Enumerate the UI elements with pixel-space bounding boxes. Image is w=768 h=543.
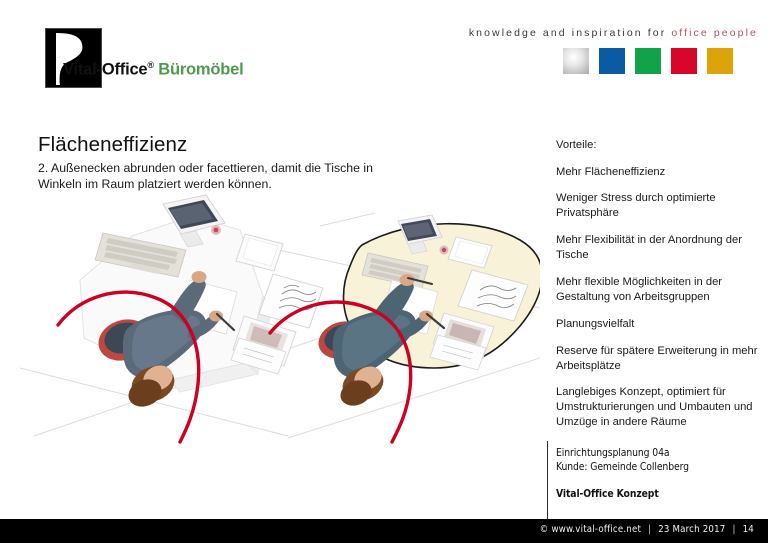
benefits-list: Vorteile: Mehr Flächeneffizienz Weniger … [556,138,758,442]
swatch-silver [563,48,589,74]
workstation-comparison-illustration [20,188,540,450]
footer-text: © www.vital-office.net|23 March 2017|14 [540,524,754,535]
footer-page-number: 14 [743,524,754,535]
meta-concept: Vital-Office Konzept [556,488,761,502]
brand-color-swatches [563,48,733,74]
illustration-stage [20,188,540,450]
swatch-blue [599,48,625,74]
tagline-primary: knowledge and inspiration for [469,27,667,39]
left-hand [192,271,207,283]
registered-mark-icon: ® [147,60,153,70]
right-hand [209,311,223,322]
page-title: Flächeneffizienz [38,133,508,157]
benefit-item: Mehr flexible Möglichkeiten in der Gesta… [556,275,758,305]
benefit-item: Reserve für spätere Erweiterung in mehr … [556,344,758,374]
project-meta: Einrichtungsplanung 04a Kunde: Gemeinde … [556,447,761,502]
benefits-heading: Vorteile: [556,138,758,153]
footer-copyright[interactable]: © www.vital-office.net [540,524,641,535]
vital-office-p-mark-icon [45,28,102,88]
footer-separator: | [733,524,736,535]
swatch-red [671,48,697,74]
benefit-item: Langlebiges Konzept, optimiert für Umstr… [556,385,758,430]
slide-footer: © www.vital-office.net|23 March 2017|14 [0,519,768,543]
tagline-accent: office people [671,27,758,39]
header-tagline: knowledge and inspiration for office peo… [398,27,758,39]
benefit-item: Mehr Flächeneffizienz [556,165,758,180]
meta-divider [547,441,548,519]
benefit-item: Planungsvielfalt [556,317,758,332]
benefit-item: Mehr Flexibilität in der Anordnung der T… [556,233,758,263]
title-block: Flächeneffizienz 2. Außenecken abrunden … [38,133,508,193]
meta-customer: Kunde: Gemeinde Collenberg [556,461,761,475]
slide-header: Vital-Office® Büromöbel knowledge and in… [0,0,768,108]
right-workstation [270,215,540,442]
benefit-item: Weniger Stress durch optimierte Privatsp… [556,191,758,221]
brand-logo[interactable]: Vital-Office® Büromöbel [45,28,285,88]
brand-name-secondary: Büromöbel [158,61,243,79]
slide: Vital-Office® Büromöbel knowledge and in… [0,0,768,543]
swatch-gold [707,48,733,74]
swatch-green [635,48,661,74]
brand-logo-text: Vital-Office® Büromöbel [63,61,244,78]
meta-spacer [556,475,761,488]
footer-separator: | [648,524,651,535]
footer-date: 23 March 2017 [658,524,725,535]
brand-name-primary: Vital-Office [63,61,147,79]
meta-project: Einrichtungsplanung 04a [556,447,761,461]
